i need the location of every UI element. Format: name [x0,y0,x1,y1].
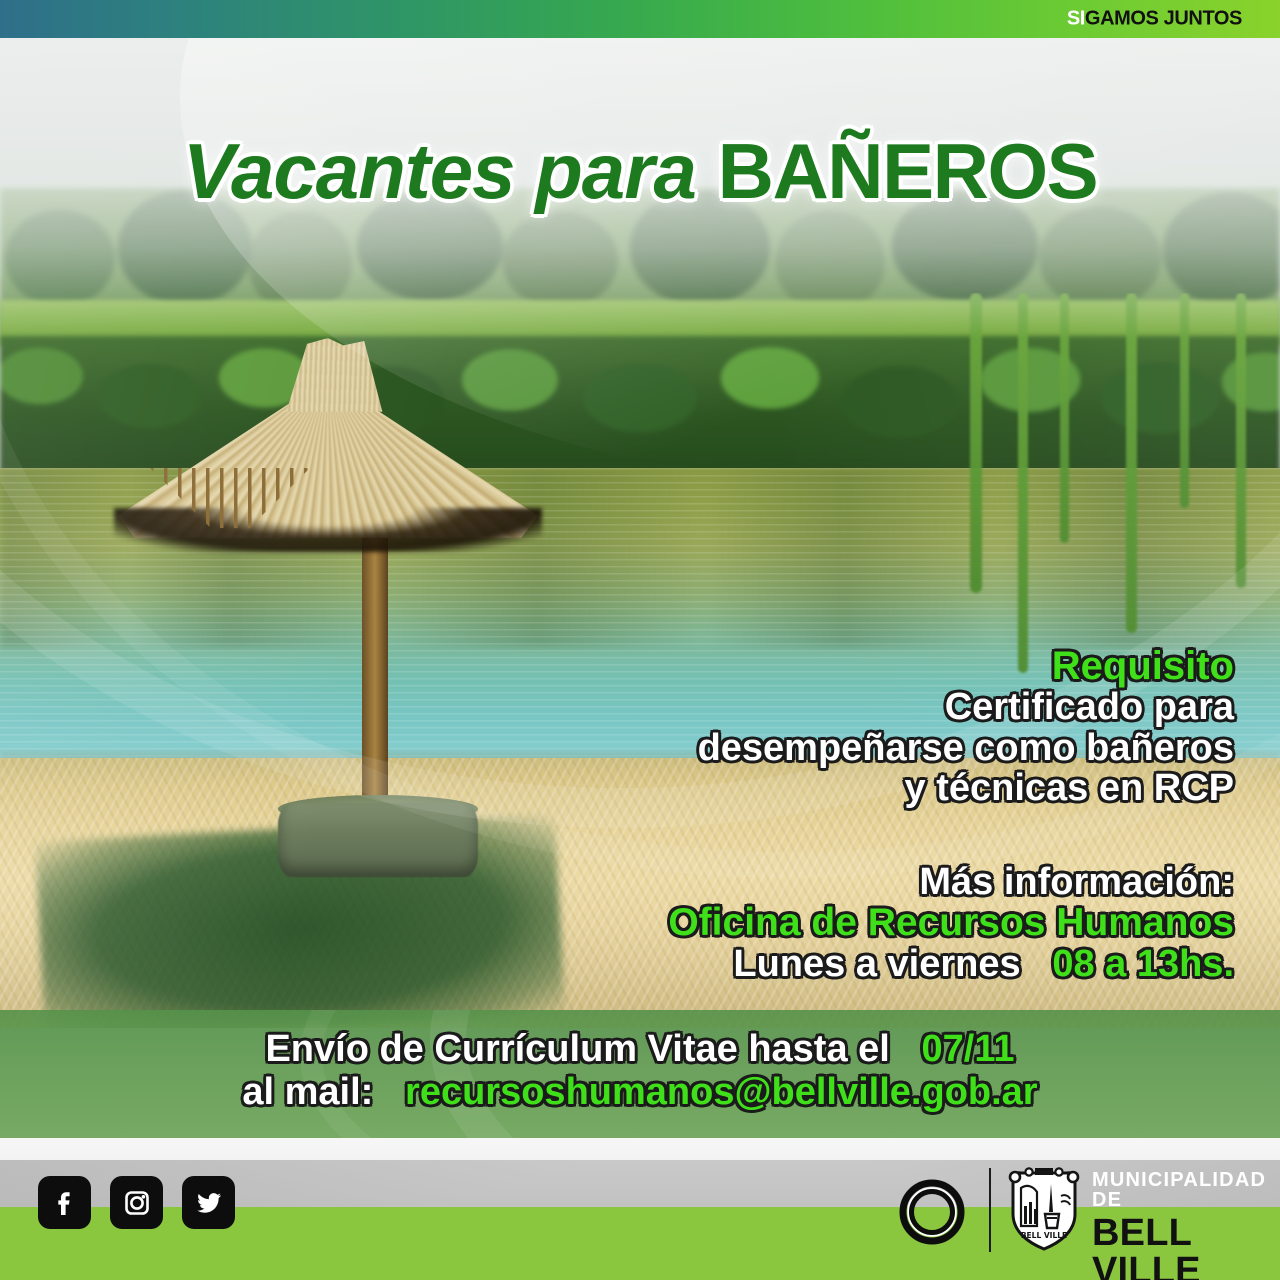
office-hours-value: 08 a 13hs. [1052,943,1234,985]
hr-office-name: Oficina de Recursos Humanos [668,902,1234,943]
cv-deadline-date: 07/11 [922,1028,1015,1070]
office-hours-line: Lunes a viernes 08 a 13hs. [668,944,1234,984]
thatch-crown [268,338,398,412]
requisito-line-2: desempeñarse como bañeros [698,728,1234,768]
facebook-icon[interactable] [38,1176,91,1229]
thatch-rim-shadow [114,508,542,552]
ring-logo-icon [897,1177,967,1247]
slogan-rest: GAMOS JUNTOS [1085,8,1242,30]
requisito-line-1: Certificado para [698,687,1234,727]
title-italic-part: Vacantes para [183,127,696,215]
instagram-icon[interactable] [110,1176,163,1229]
page-title: Vacantes para BAÑEROS [0,132,1280,210]
title-bold-part: BAÑEROS [718,127,1098,215]
municipality-name: BELL VILLE [1092,1214,1280,1280]
cv-email-address[interactable]: recursoshumanos@bellville.gob.ar [405,1071,1038,1113]
footer-white-strip [0,1138,1280,1160]
umbrella-pole [362,508,388,818]
cv-instructions: Envío de Currículum Vitae hasta el 07/11… [0,1028,1280,1115]
office-hours-label: Lunes a viernes [733,943,1020,985]
requisito-heading: Requisito [698,645,1234,687]
crest-caption: BELL VILLE [1021,1231,1067,1240]
poster-canvas: SIGAMOS JUNTOS [0,0,1280,1280]
municipality-prefix: MUNICIPALIDAD DE [1092,1170,1280,1210]
cv-deadline-label: Envío de Currículum Vitae hasta el [265,1028,889,1070]
footer-divider [989,1168,991,1252]
slogan-text: SIGAMOS JUNTOS [1067,8,1242,31]
bell-ville-crest-icon: BELL VILLE [1007,1166,1081,1252]
cv-line-2: al mail: recursoshumanos@bellville.gob.a… [0,1071,1280,1114]
slogan-highlight: SI [1067,8,1085,30]
social-links [38,1176,235,1229]
mas-informacion-block: Más información: Oficina de Recursos Hum… [668,862,1234,984]
requisito-block: Requisito Certificado para desempeñarse … [698,645,1234,808]
twitter-icon[interactable] [182,1176,235,1229]
top-slogan-bar: SIGAMOS JUNTOS [0,0,1280,38]
cv-mail-label: al mail: [242,1071,373,1113]
requisito-line-3: y técnicas en RCP [698,768,1234,808]
municipality-wordmark: MUNICIPALIDAD DE BELL VILLE [1092,1170,1280,1280]
cv-line-1: Envío de Currículum Vitae hasta el 07/11 [0,1028,1280,1071]
mas-informacion-heading: Más información: [668,862,1234,902]
thatched-umbrella-canopy [118,338,538,538]
umbrella-base [278,803,478,877]
